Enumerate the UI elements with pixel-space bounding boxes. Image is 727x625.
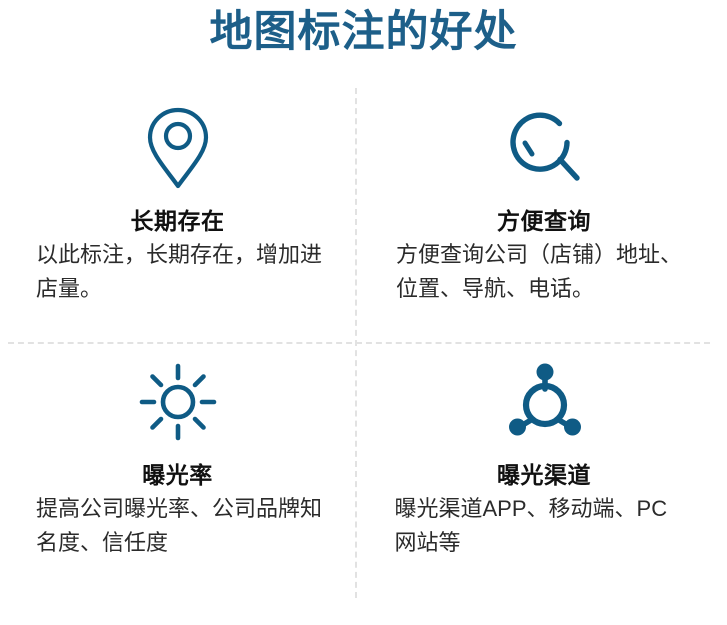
benefit-card-body: 以此标注，长期存在，增加进店量。 — [36, 238, 323, 306]
network-nodes-icon — [499, 356, 591, 448]
map-pin-icon — [132, 102, 224, 194]
sun-icon — [132, 356, 224, 448]
benefit-card-exposure-rate: 曝光率 提高公司曝光率、公司品牌知名度、信任度 — [0, 342, 355, 596]
benefit-card-body: 曝光渠道APP、移动端、PC网站等 — [395, 492, 680, 560]
benefit-card-title: 长期存在 — [131, 206, 225, 236]
benefit-card-title: 方便查询 — [491, 206, 591, 236]
page-title: 地图标注的好处 — [0, 3, 727, 61]
magnifier-icon — [499, 102, 591, 194]
benefit-card-title: 曝光渠道 — [491, 460, 591, 490]
benefits-infographic: 地图标注的好处 长期存在 以此标注，长期存在，增加进店量。 — [0, 0, 727, 625]
benefit-card-exposure-channels: 曝光渠道 曝光渠道APP、移动端、PC网站等 — [355, 342, 727, 596]
benefit-card-body: 提高公司曝光率、公司品牌知名度、信任度 — [36, 492, 323, 560]
benefit-card-grid: 长期存在 以此标注，长期存在，增加进店量。 方便查询 方便查询公司（店铺）地址、… — [0, 88, 727, 613]
benefit-card-title: 曝光率 — [142, 460, 213, 490]
benefit-card-easy-search: 方便查询 方便查询公司（店铺）地址、位置、导航、电话。 — [355, 88, 727, 342]
benefit-card-long-term: 长期存在 以此标注，长期存在，增加进店量。 — [0, 88, 355, 342]
benefit-card-body: 方便查询公司（店铺）地址、位置、导航、电话。 — [396, 238, 688, 306]
